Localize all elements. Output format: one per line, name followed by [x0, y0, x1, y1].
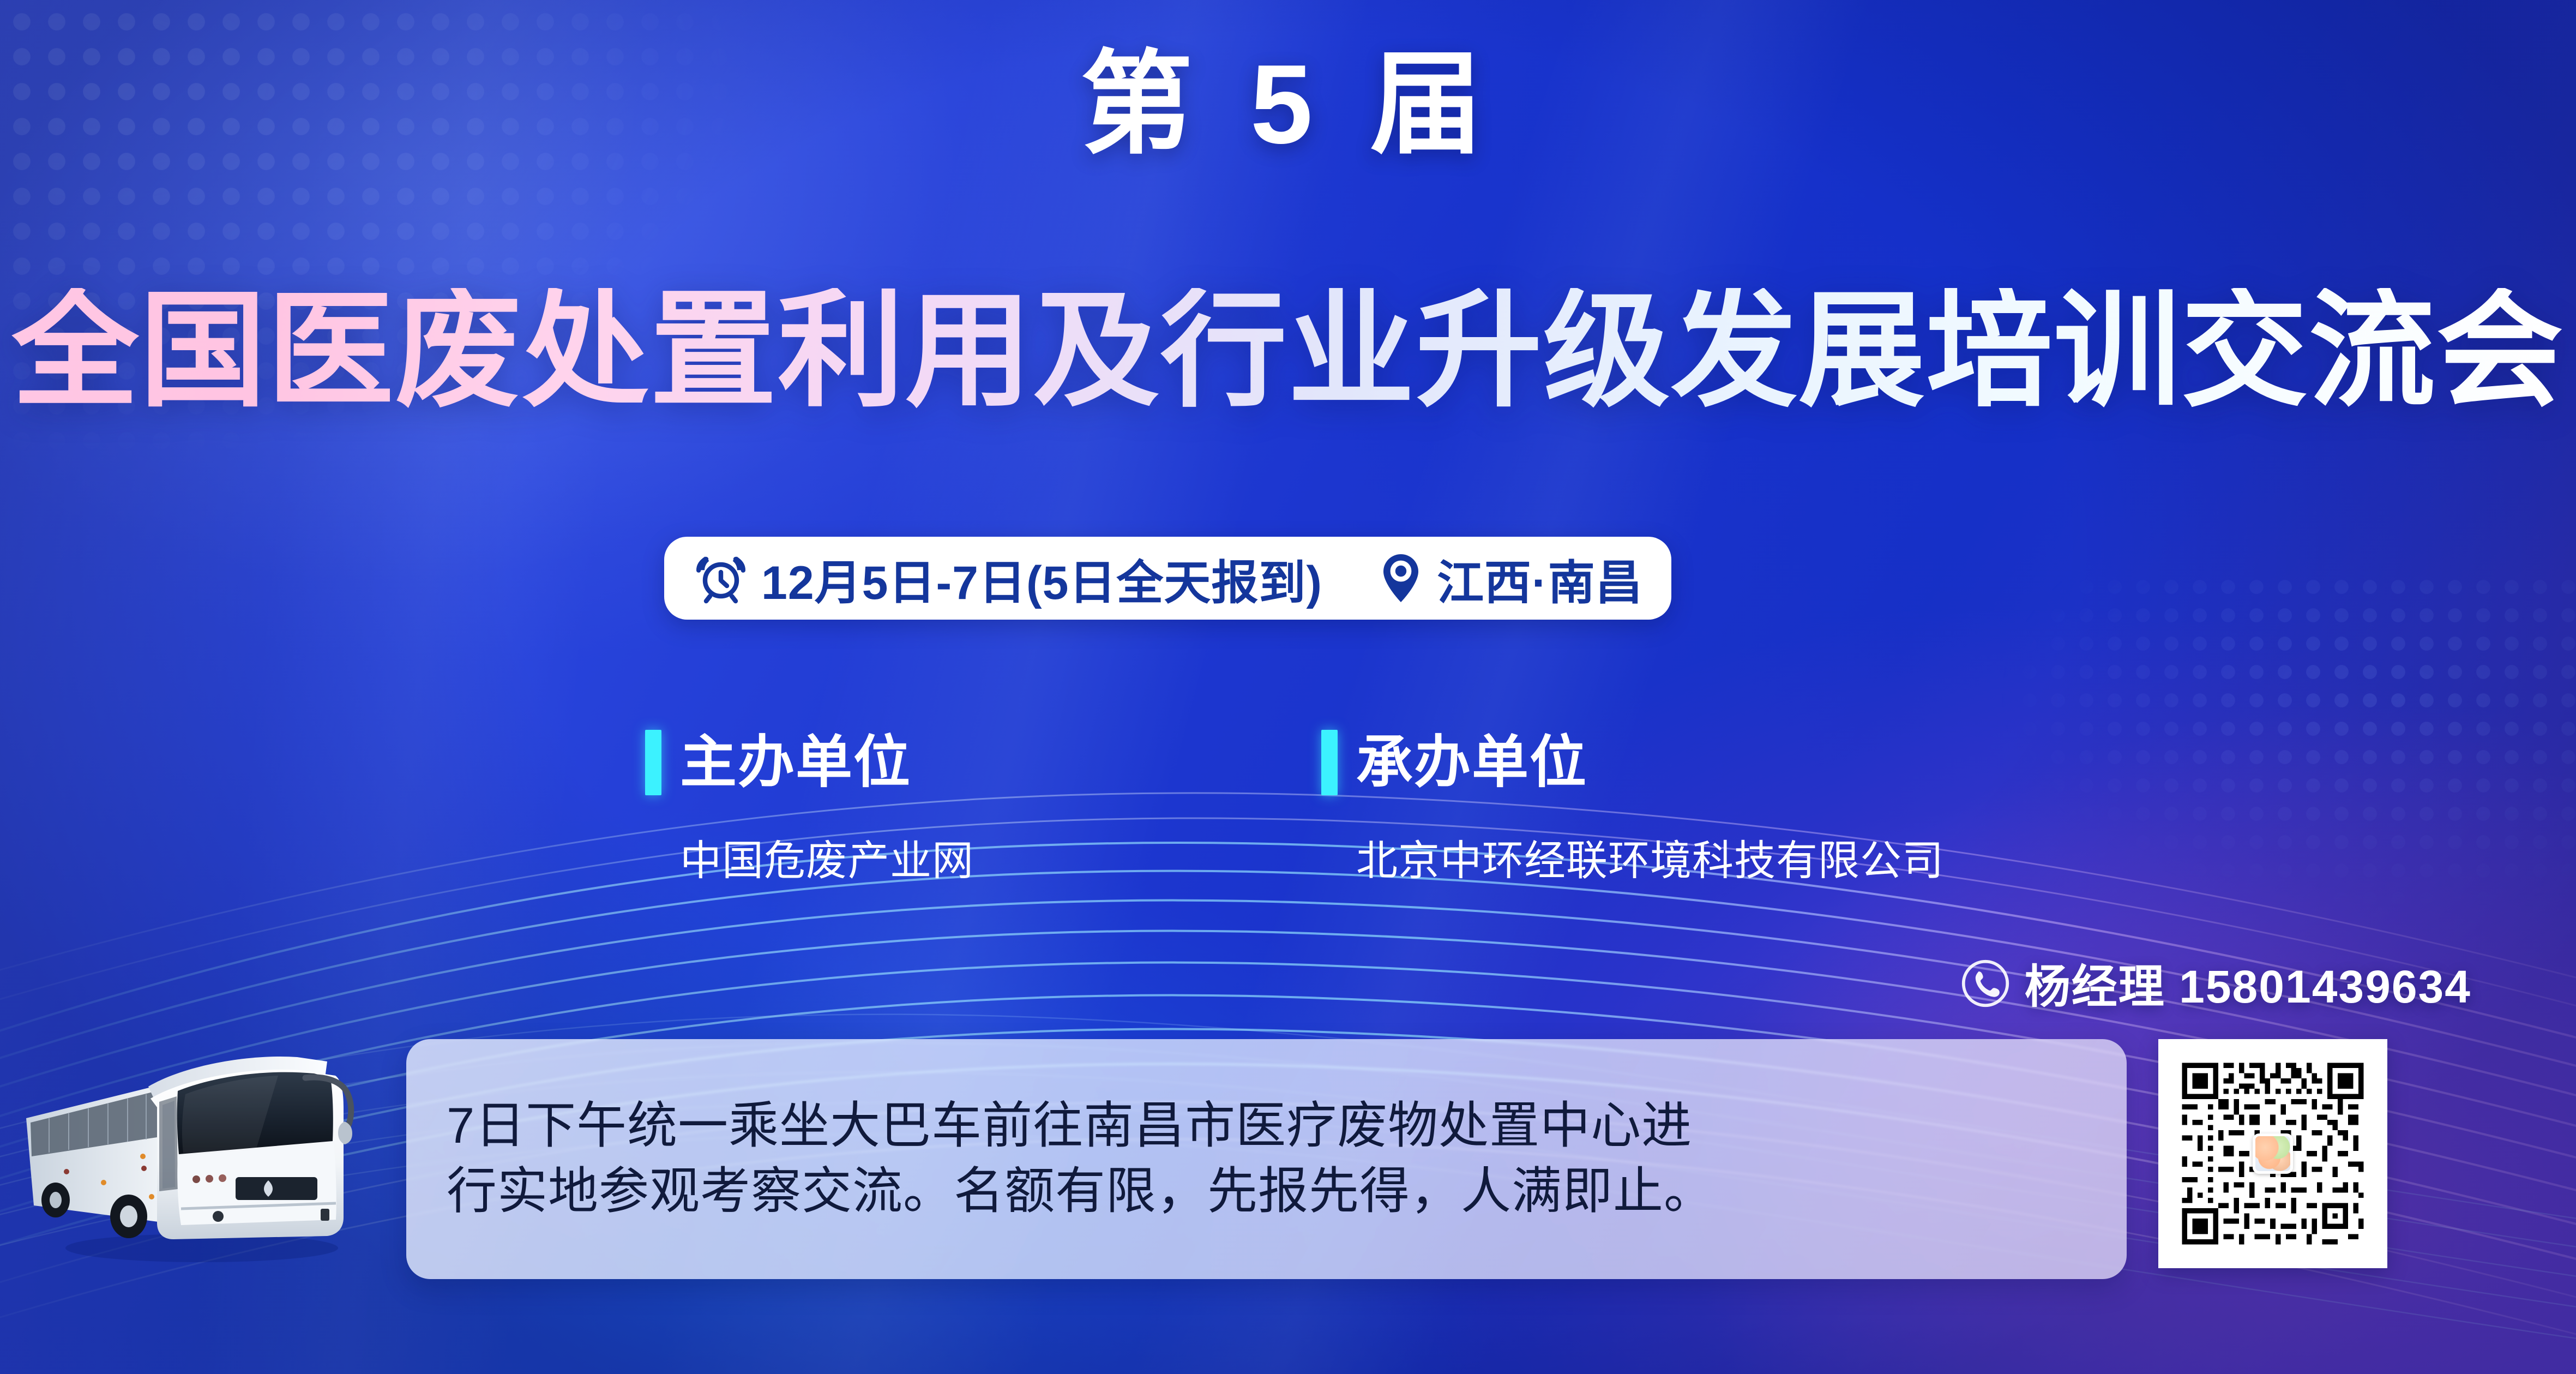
qr-center-avatar	[2253, 1133, 2293, 1174]
cyan-accent-bar	[1321, 730, 1338, 795]
organizer-name: 北京中环经联环境科技有限公司	[1356, 827, 1944, 887]
organizer-name: 中国危废产业网	[680, 827, 974, 887]
qr-matrix	[2177, 1058, 2369, 1250]
note-line-1: 7日下午统一乘坐大巴车前往南昌市医疗废物处置中心进	[447, 1094, 2086, 1159]
edition-heading: 第 5 届	[0, 48, 2576, 160]
location-pin-icon	[1379, 552, 1423, 604]
phone-icon	[1960, 958, 2011, 1009]
main-title: 全国医废处置利用及行业升级发展培训交流会	[0, 288, 2576, 415]
note-line-2: 行实地参观考察交流。名额有限，先报先得，人满即止。	[447, 1159, 2086, 1225]
date-location-badge: 12月5日-7日(5日全天报到) 江西·南昌	[664, 537, 1671, 620]
organizer-block-host: 主办单位	[645, 730, 911, 795]
note-panel: 7日下午统一乘坐大巴车前往南昌市医疗废物处置中心进 行实地参观考察交流。名额有限…	[406, 1039, 2127, 1279]
organizer-block-coorg: 承办单位	[1321, 730, 1587, 795]
contact-text: 杨经理 15801439634	[2025, 950, 2471, 1016]
coach-bus-illustration	[22, 1025, 404, 1282]
contact-line: 杨经理 15801439634	[1960, 950, 2471, 1016]
organizer-label: 主办单位	[680, 734, 911, 791]
badge-date-text: 12月5日-7日(5日全天报到)	[761, 544, 1322, 613]
cyan-accent-bar	[645, 730, 661, 795]
organizer-label: 承办单位	[1356, 734, 1587, 791]
badge-location-text: 江西·南昌	[1437, 544, 1643, 613]
alarm-clock-icon	[695, 552, 747, 604]
wechat-qr-code[interactable]	[2158, 1039, 2387, 1268]
poster-canvas: 第 5 届 全国医废处置利用及行业升级发展培训交流会 12月5日-7日(5日全天…	[0, 0, 2576, 1374]
